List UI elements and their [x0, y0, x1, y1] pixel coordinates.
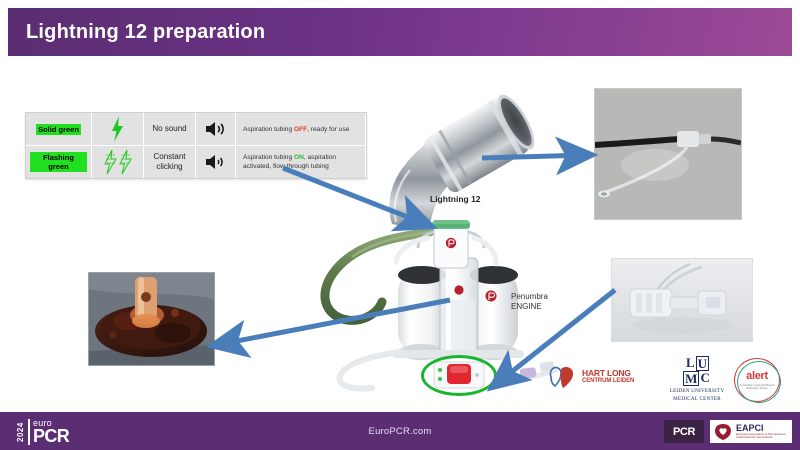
lumc-logo: L U M C LEIDEN UNIVERSITY MEDICAL CENTER — [660, 356, 734, 402]
legend-description-cell: Aspiration tubing OFF, ready for use — [236, 113, 366, 145]
lumc-subtitle-line2: MEDICAL CENTER — [660, 396, 734, 402]
legend-sound-cell: No sound — [144, 113, 196, 145]
lumc-letter-m: M — [683, 371, 699, 386]
lumc-letter-u: U — [696, 356, 709, 371]
hart-long-line2: CENTRUM LEIDEN — [582, 378, 634, 385]
green-highlight-ellipse — [421, 355, 497, 396]
eapci-heart-icon — [714, 423, 732, 441]
lightning-bolt-solid-icon — [92, 113, 144, 145]
thrombus-clot-photo — [88, 272, 215, 366]
desc-pre-0: Aspiration tubing — [243, 126, 294, 133]
legend-state-cell: Flashing green — [26, 146, 92, 178]
hart-long-line1: HART LONG — [582, 369, 634, 378]
state-tag: Flashing green — [30, 152, 87, 172]
penumbra-engine-label: Penumbra ENGINE — [511, 292, 548, 312]
legend-state-cell: Solid green — [26, 113, 92, 145]
alert-ring-green — [737, 361, 781, 403]
aspiration-connector-photo — [611, 258, 753, 342]
table-row: Solid green No sound Aspiration tubin — [26, 113, 366, 146]
lumc-subtitle-line1: LEIDEN UNIVERSITY — [660, 388, 734, 394]
pcr-badge-label: PCR — [673, 426, 695, 438]
lumc-letter-l: L — [685, 356, 696, 371]
speaker-high-icon — [196, 146, 236, 178]
lightning-12-label-text: Lightning 12 — [430, 194, 481, 204]
status-legend-table: Solid green No sound Aspiration tubin — [25, 112, 367, 179]
partner-logos: HART LONG CENTRUM LEIDEN L U M C LEIDEN … — [548, 356, 794, 404]
desc-highlight-0: OFF — [294, 126, 307, 133]
eapci-subtitle: European Association of Percutaneous Car… — [736, 433, 788, 440]
legend-description-cell: Aspiration tubing ON, aspiration activat… — [236, 146, 366, 178]
table-row: Flashing green Constant clicking — [26, 146, 366, 178]
catheter-hub-photo — [594, 88, 742, 220]
hart-long-centrum-leiden-logo: HART LONG CENTRUM LEIDEN — [548, 364, 634, 390]
pcr-badge: PCR — [664, 420, 704, 443]
speaker-low-icon — [196, 113, 236, 145]
legend-sound-cell: Constant clicking — [144, 146, 196, 178]
lightning-12-tip-illustration — [389, 90, 541, 232]
slide-root: Lightning 12 preparation — [0, 0, 800, 450]
lumc-letter-c: C — [699, 371, 710, 386]
alert-logo: alert Amsterdam Leiden Eindhoven Rotterd… — [734, 358, 780, 402]
state-tag: Solid green — [36, 124, 81, 135]
engine-label-line2: ENGINE — [511, 302, 548, 312]
desc-pre-1: Aspiration tubing — [243, 154, 294, 161]
engine-label-line1: Penumbra — [511, 292, 548, 302]
lightning-12-label: Lightning 12 — [430, 194, 481, 204]
desc-highlight-1: ON — [294, 154, 304, 161]
eapci-badge: EAPCI European Association of Percutaneo… — [710, 420, 792, 443]
alert-subtitle: Amsterdam Leiden Eindhoven Rotterdam Twe… — [738, 384, 776, 390]
lightning-bolt-flashing-icon — [92, 146, 144, 178]
desc-post-0: , ready for use — [307, 126, 349, 133]
alert-wordmark: alert — [734, 370, 780, 382]
slide-footer: 2024 euro PCR EuroPCR.com PCR EAPCI Euro… — [0, 412, 800, 450]
